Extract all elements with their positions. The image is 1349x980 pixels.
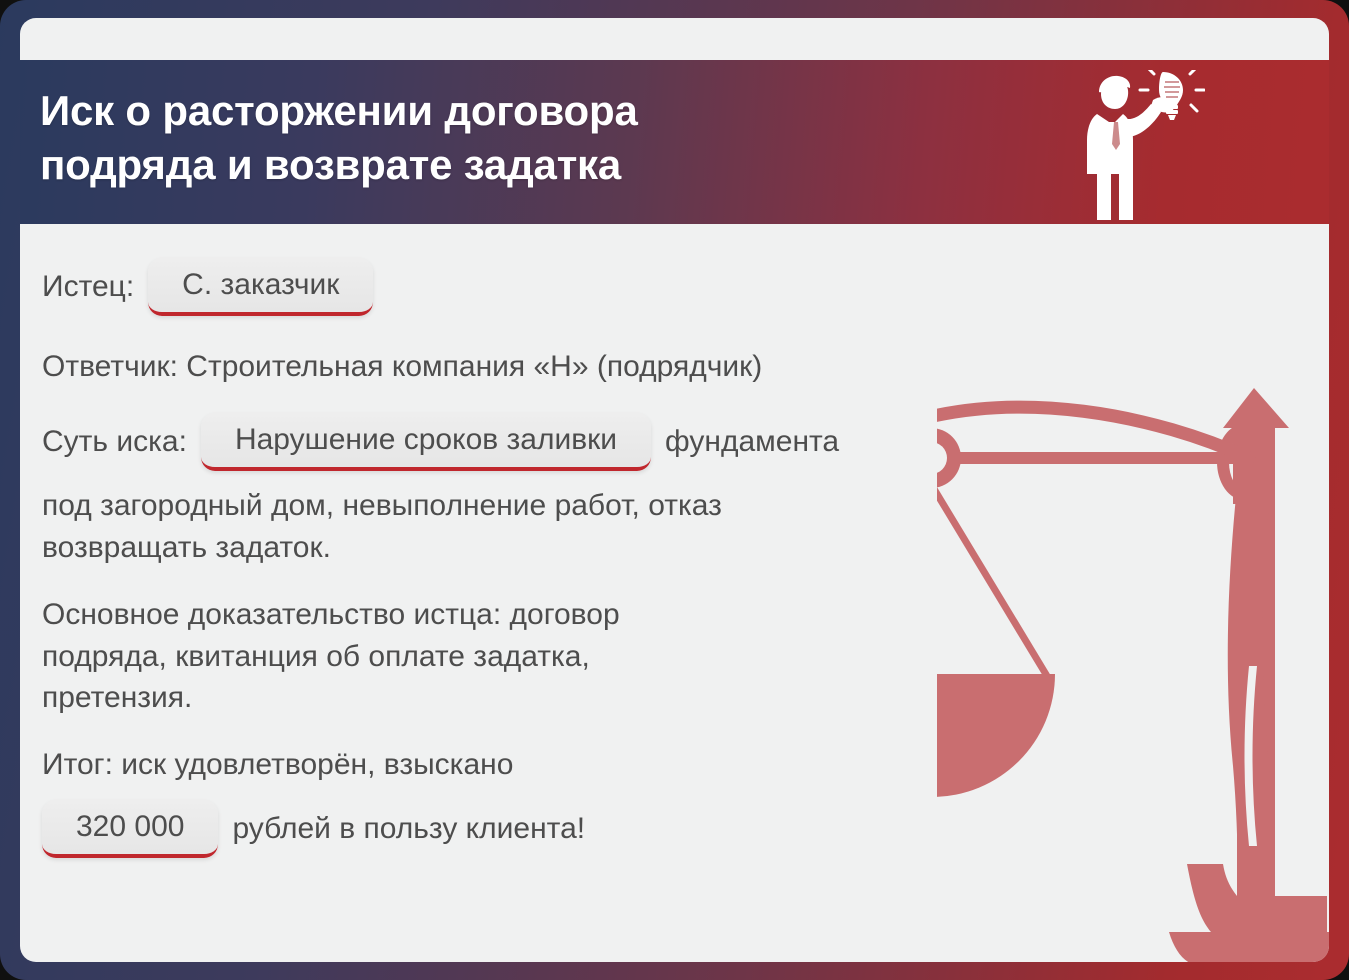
info-card: Иск о расторжении договора подряда и воз… (0, 0, 1349, 980)
claim-pill[interactable]: Нарушение сроков заливки (201, 413, 651, 471)
businessman-with-lightbulb-icon (1075, 70, 1205, 220)
card-header: Иск о расторжении договора подряда и воз… (20, 60, 1329, 224)
evidence-text: Основное доказательство истца: договор п… (42, 594, 1102, 718)
result-tail: рублей в пользу клиента! (232, 812, 585, 846)
claim-tail: фундамента (665, 425, 839, 459)
plaintiff-pill[interactable]: С. заказчик (148, 258, 373, 316)
result-row: 320 000 рублей в пользу клиента! (42, 800, 1102, 858)
result-amount-pill[interactable]: 320 000 (42, 800, 218, 858)
claim-continuation: под загородный дом, невыполнение работ, … (42, 485, 1102, 568)
claim-row: Суть иска: Нарушение сроков заливки фунд… (42, 413, 1102, 471)
card-body: Истец: С. заказчик Ответчик: Строительна… (42, 258, 1102, 858)
plaintiff-row: Истец: С. заказчик (42, 258, 1102, 316)
plaintiff-label: Истец: (42, 270, 134, 304)
result-lead: Итог: иск удовлетворён, взыскано (42, 744, 1102, 785)
defendant-text: Ответчик: Строительная компания «Н» (под… (42, 346, 1102, 387)
claim-label: Суть иска: (42, 425, 187, 459)
card-panel: Иск о расторжении договора подряда и воз… (20, 18, 1329, 962)
page-title: Иск о расторжении договора подряда и воз… (40, 84, 860, 192)
